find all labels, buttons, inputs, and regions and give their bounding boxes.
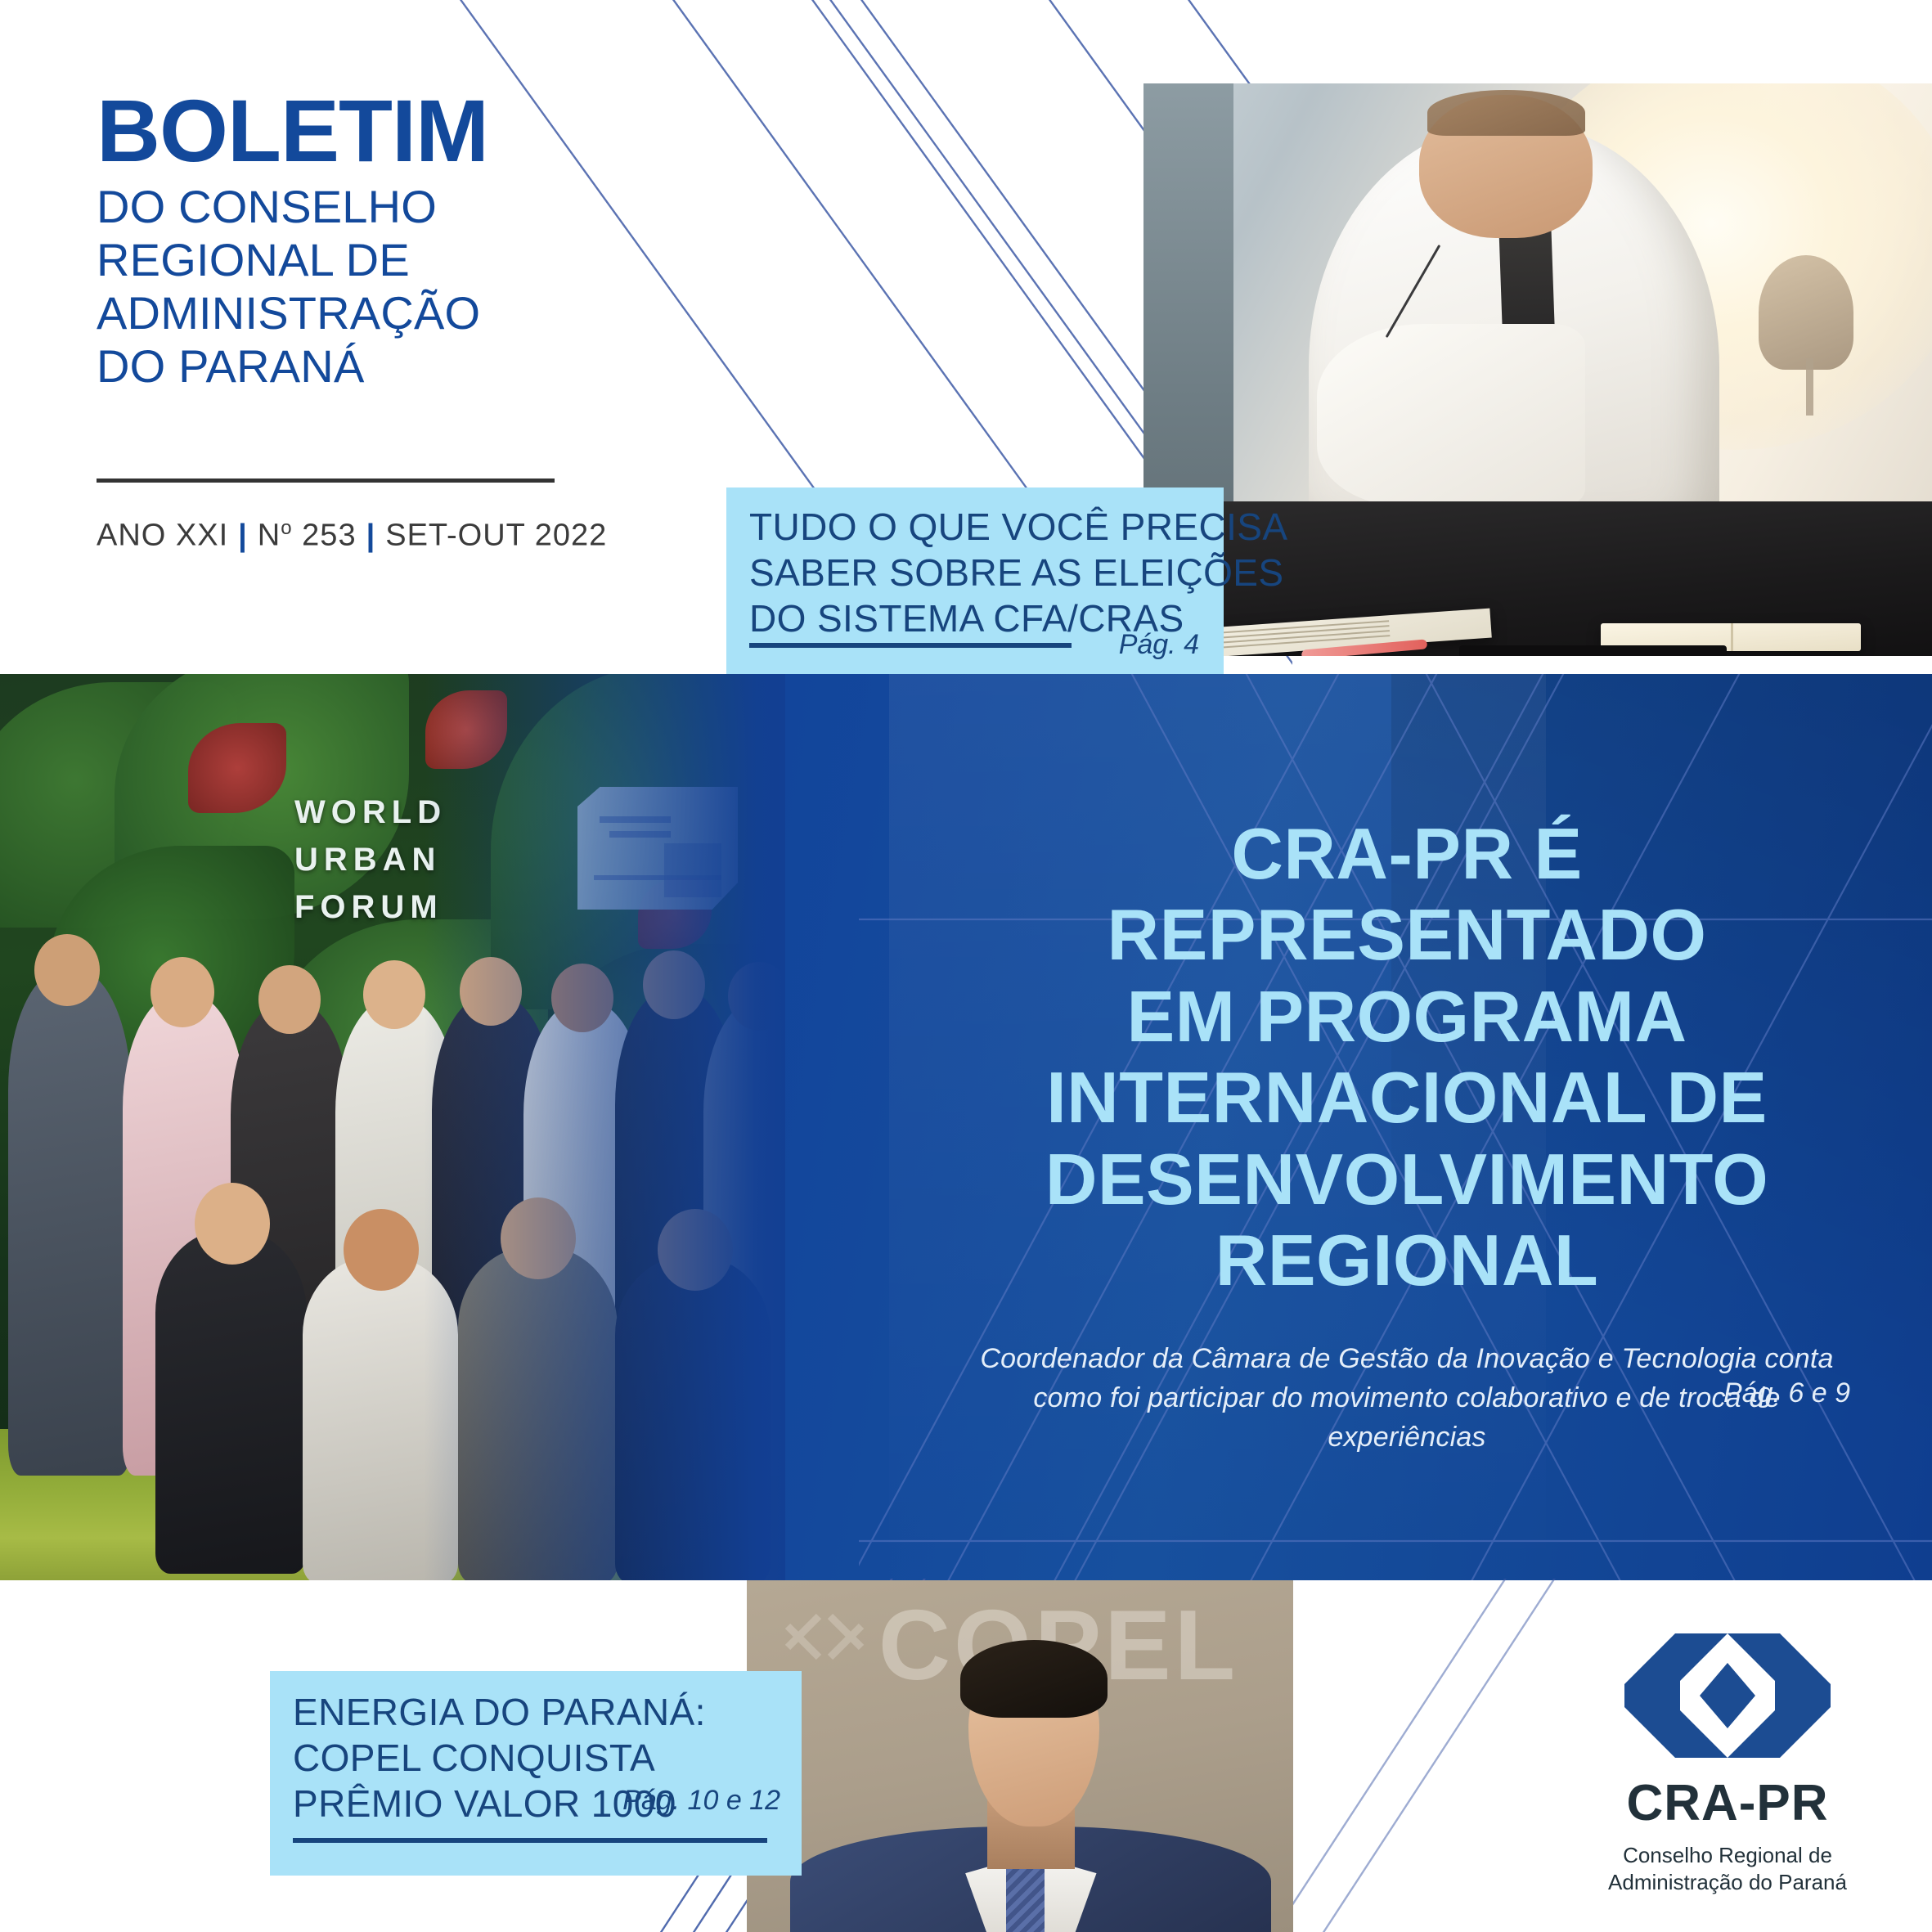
callout-energy-line-1: ENERGIA DO PARANÁ: bbox=[293, 1689, 706, 1735]
photo-world-urban-forum-group: WORLD URBAN FORUM bbox=[0, 674, 785, 1580]
photo-person bbox=[8, 968, 131, 1476]
cra-pr-logo: CRA-PR Conselho Regional de Administraçã… bbox=[1588, 1630, 1867, 1897]
feature-subtitle: Coordenador da Câmara de Gestão da Inova… bbox=[957, 1339, 1857, 1458]
photo-keyboard bbox=[1459, 645, 1728, 656]
callout-energy-divider bbox=[293, 1838, 767, 1843]
masthead-subtitle-line-4: DO PARANÁ bbox=[97, 340, 365, 392]
feature-page-reference: Pág. 6 e 9 bbox=[1723, 1377, 1850, 1409]
masthead-subtitle: DO CONSELHO REGIONAL DE ADMINISTRAÇÃO DO… bbox=[97, 181, 685, 393]
photo-person-head bbox=[363, 960, 425, 1029]
callout-elections-line-2: SABER SOBRE AS ELEIÇÕES bbox=[749, 550, 1287, 595]
newsletter-cover: BOLETIM DO CONSELHO REGIONAL DE ADMINIST… bbox=[0, 0, 1932, 1932]
photo-person-head bbox=[258, 965, 321, 1034]
photo-person-head bbox=[195, 1183, 270, 1265]
photo-person-hair bbox=[1427, 90, 1585, 136]
callout-elections[interactable]: TUDO O QUE VOCÊ PRECISA SABER SOBRE AS E… bbox=[726, 487, 1224, 674]
issue-separator-2: | bbox=[357, 519, 386, 553]
callout-energy-line-2: COPEL CONQUISTA bbox=[293, 1735, 706, 1781]
issue-number: 253 bbox=[302, 519, 356, 553]
callout-energy[interactable]: ENERGIA DO PARANÁ: COPEL CONQUISTA PRÊMI… bbox=[270, 1671, 802, 1876]
feature-headline-line-4: INTERNACIONAL DE bbox=[1046, 1057, 1768, 1138]
callout-elections-page: Pág. 4 bbox=[1119, 629, 1199, 661]
photo-person-head bbox=[151, 957, 214, 1027]
photo-lamp-stem bbox=[1806, 358, 1813, 416]
masthead: BOLETIM DO CONSELHO REGIONAL DE ADMINIST… bbox=[97, 86, 685, 393]
feature-headline-block: CRA-PR É REPRESENTADO EM PROGRAMA INTERN… bbox=[957, 813, 1857, 1457]
photo-person-head bbox=[344, 1209, 419, 1291]
feature-headline-line-6: REGIONAL bbox=[1215, 1220, 1598, 1301]
issue-info: ANO XXI|No 253|SET-OUT 2022 bbox=[97, 517, 607, 554]
photo-person-head bbox=[34, 934, 100, 1006]
feature-band: WORLD URBAN FORUM bbox=[0, 674, 1932, 1580]
photo-person-arm bbox=[1317, 324, 1585, 507]
feature-headline-line-2: REPRESENTADO bbox=[1108, 894, 1707, 975]
feature-headline-line-3: EM PROGRAMA bbox=[1126, 976, 1687, 1057]
photo-person-hair bbox=[960, 1640, 1108, 1718]
photo-copel-logo-mark bbox=[780, 1598, 878, 1674]
masthead-divider bbox=[97, 479, 555, 483]
cra-pr-diamond-icon bbox=[1621, 1630, 1834, 1761]
photo-copel-executive: COPEL bbox=[747, 1580, 1293, 1932]
photo-sign-line-3: FORUM bbox=[294, 889, 443, 925]
photo-lamp bbox=[1759, 255, 1853, 370]
page-title: BOLETIM bbox=[97, 86, 685, 176]
masthead-subtitle-line-2: REGIONAL DE bbox=[97, 234, 410, 285]
callout-elections-divider bbox=[749, 643, 1072, 648]
issue-year: ANO XXI bbox=[97, 519, 228, 553]
issue-number-ordinal: o bbox=[281, 517, 292, 539]
callout-energy-page: Pág. 10 e 12 bbox=[622, 1785, 780, 1817]
feature-headline-line-1: CRA-PR É bbox=[1231, 813, 1582, 894]
masthead-subtitle-line-1: DO CONSELHO bbox=[97, 181, 437, 232]
cra-pr-logo-name: CRA-PR bbox=[1588, 1774, 1867, 1832]
issue-period: SET-OUT 2022 bbox=[385, 519, 607, 553]
issue-separator-1: | bbox=[228, 519, 258, 553]
issue-number-prefix: N bbox=[258, 519, 281, 553]
feature-headline: CRA-PR É REPRESENTADO EM PROGRAMA INTERN… bbox=[957, 813, 1857, 1301]
photo-gradient-fade bbox=[424, 674, 785, 1580]
cra-pr-logo-description-line-2: Administração do Paraná bbox=[1608, 1870, 1847, 1894]
cra-pr-logo-description: Conselho Regional de Administração do Pa… bbox=[1588, 1842, 1867, 1897]
photo-necktie bbox=[1006, 1869, 1045, 1932]
masthead-subtitle-line-3: ADMINISTRAÇÃO bbox=[97, 287, 480, 339]
callout-elections-text: TUDO O QUE VOCÊ PRECISA SABER SOBRE AS E… bbox=[749, 504, 1287, 641]
photo-sign-line-2: URBAN bbox=[294, 842, 441, 878]
photo-person bbox=[155, 1230, 307, 1574]
cra-pr-logo-description-line-1: Conselho Regional de bbox=[1623, 1843, 1832, 1867]
callout-elections-line-1: TUDO O QUE VOCÊ PRECISA bbox=[749, 504, 1287, 550]
callout-elections-line-3: DO SISTEMA CFA/CRAS bbox=[749, 595, 1287, 641]
feature-headline-line-5: DESENVOLVIMENTO bbox=[1045, 1139, 1768, 1220]
